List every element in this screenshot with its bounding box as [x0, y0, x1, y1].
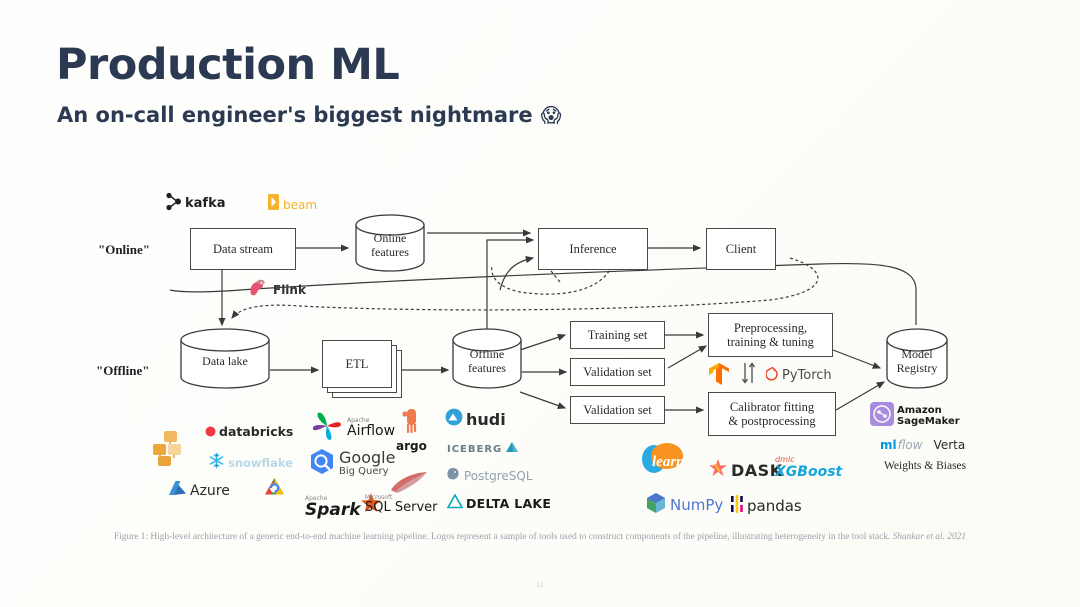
pandas-label: pandas — [747, 497, 802, 515]
spark-wordmark: Apache Spark — [305, 496, 361, 519]
node-model-registry[interactable]: Model Registry — [884, 328, 950, 390]
node-etl[interactable]: ETL — [322, 340, 406, 402]
databricks-icon — [205, 422, 216, 441]
sql-server-icon — [389, 470, 429, 498]
beam-icon — [268, 194, 280, 215]
logo-snowflake: snowflake — [208, 452, 293, 473]
postgresql-label: PostgreSQL — [464, 469, 533, 483]
page-title: Production ML — [56, 40, 399, 90]
sql-server-wordmark: Microsoft SQL Server — [365, 495, 438, 514]
beam-label: beam — [283, 198, 317, 212]
figure-caption-text: Figure 1: High-level architecture of a g… — [114, 532, 893, 542]
hudi-label: hudi — [466, 410, 506, 429]
node-calibrator[interactable]: Calibrator fitting & postprocessing — [708, 392, 836, 436]
node-preprocessing[interactable]: Preprocessing, training & tuning — [708, 313, 833, 357]
figure-caption: Figure 1: High-level architecture of a g… — [96, 530, 984, 545]
bigquery-icon — [308, 448, 336, 480]
weights-and-biases-label: Weights & Biases — [884, 460, 966, 472]
snowflake-icon — [208, 452, 225, 473]
node-data-lake[interactable]: Data lake — [178, 328, 272, 390]
mlflow-ml-label: ml — [880, 438, 897, 452]
pytorch-icon — [766, 366, 779, 385]
logo-pandas: pandas — [730, 494, 802, 518]
google-cloud-icon — [262, 476, 287, 503]
hudi-icon — [445, 408, 463, 430]
airflow-pinwheel-icon — [310, 410, 344, 446]
up-down-arrows-icon — [740, 362, 758, 388]
screaming-face-icon: 😱 — [541, 103, 562, 127]
figure-citation: Shankar et al. 2021 — [893, 532, 966, 542]
scikit-learn-label: learn — [652, 454, 685, 471]
tensorflow-icon — [708, 362, 730, 390]
iceberg-icon — [505, 440, 519, 459]
logo-google-cloud — [262, 476, 287, 503]
delta-lake-label: DELTA LAKE — [466, 496, 551, 511]
page-number: 12 — [0, 580, 1080, 589]
airflow-wordmark: Apache Airflow — [347, 418, 395, 438]
node-offline-features-label: Offline features — [468, 343, 506, 376]
pytorch-label: PyTorch — [782, 368, 832, 383]
node-etl-label: ETL — [322, 340, 392, 388]
node-client[interactable]: Client — [706, 228, 776, 270]
airflow-label: Airflow — [347, 424, 395, 438]
kafka-icon — [165, 192, 182, 215]
logo-sql-server: Microsoft SQL Server — [365, 470, 438, 514]
node-data-lake-label: Data lake — [202, 350, 248, 369]
pipeline-figure: "Online" "Offline" Data stream Online fe… — [0, 170, 1080, 570]
node-online-features[interactable]: Online features — [353, 214, 427, 272]
logo-xgboost: dmlc XGBoost — [775, 455, 842, 480]
node-inference[interactable]: Inference — [538, 228, 648, 270]
sagemaker-wordmark: Amazon SageMaker — [897, 405, 960, 427]
arrows-train-feedback — [740, 362, 758, 388]
logo-argo: argo — [396, 408, 427, 453]
logo-pytorch: PyTorch — [766, 366, 832, 385]
logo-dask: DASK — [708, 458, 783, 482]
dask-icon — [708, 458, 728, 482]
lane-label-online: "Online" — [98, 242, 150, 258]
node-validation-set-1[interactable]: Validation set — [570, 358, 665, 386]
logo-numpy: NumPy — [645, 492, 723, 518]
kafka-label: kafka — [185, 196, 226, 211]
azure-label: Azure — [190, 483, 230, 499]
argo-octopus-icon — [401, 408, 421, 438]
node-online-features-label: Online features — [371, 227, 409, 260]
xgboost-dmlc-label: dmlc — [775, 455, 795, 464]
numpy-label: NumPy — [670, 496, 723, 514]
logo-delta-lake: DELTA LAKE — [447, 494, 551, 513]
postgresql-elephant-icon — [445, 466, 461, 486]
logo-sagemaker: Amazon SageMaker — [870, 402, 960, 430]
node-data-stream[interactable]: Data stream — [190, 228, 296, 270]
argo-label: argo — [396, 439, 427, 453]
node-offline-features[interactable]: Offline features — [450, 328, 524, 390]
logo-hudi: hudi — [445, 408, 506, 430]
slide-canvas: Production ML An on-call engineer's bigg… — [0, 0, 1080, 607]
logo-tensorflow — [708, 362, 730, 390]
logo-azure: Azure — [168, 480, 230, 501]
flink-squirrel-icon — [246, 276, 270, 304]
xgboost-label: XGBoost — [775, 464, 842, 480]
node-model-registry-label: Model Registry — [897, 343, 938, 376]
flink-label: Flink — [273, 283, 306, 297]
logo-aws-s3 — [150, 428, 190, 472]
logo-databricks: databricks — [205, 422, 293, 441]
sagemaker-amazon-label: Amazon — [897, 405, 960, 416]
logo-postgresql: PostgreSQL — [445, 466, 533, 486]
google-label: Google — [339, 450, 395, 467]
spark-label: Spark — [305, 502, 361, 519]
verta-label: Verta — [934, 438, 966, 452]
numpy-icon — [645, 492, 667, 518]
logo-mlflow: ml flow Verta — [880, 438, 965, 452]
logo-airflow: Apache Airflow — [310, 410, 395, 446]
page-subtitle: An on-call engineer's biggest nightmare … — [57, 103, 561, 127]
azure-icon — [168, 480, 187, 501]
sql-server-label: SQL Server — [365, 501, 438, 514]
logo-weights-and-biases: Weights & Biases — [884, 460, 966, 472]
lane-label-offline: "Offline" — [96, 363, 149, 379]
logo-beam: beam — [268, 194, 317, 215]
pandas-icon — [730, 494, 744, 518]
delta-lake-icon — [447, 494, 463, 513]
node-training-set[interactable]: Training set — [570, 321, 665, 349]
logo-kafka: kafka — [165, 192, 226, 215]
sagemaker-label: SageMaker — [897, 416, 960, 427]
databricks-label: databricks — [219, 424, 293, 439]
iceberg-label: ICEBERG — [447, 444, 502, 455]
mlflow-flow-label: flow — [898, 438, 923, 452]
logo-iceberg: ICEBERG — [447, 440, 519, 459]
page-subtitle-text: An on-call engineer's biggest nightmare — [57, 103, 533, 127]
logo-scikit-learn: learn — [640, 442, 686, 480]
snowflake-label: snowflake — [228, 456, 293, 470]
logo-flink: Flink — [246, 276, 306, 304]
sagemaker-icon — [870, 402, 894, 430]
node-validation-set-2[interactable]: Validation set — [570, 396, 665, 424]
aws-s3-icon — [150, 428, 190, 472]
